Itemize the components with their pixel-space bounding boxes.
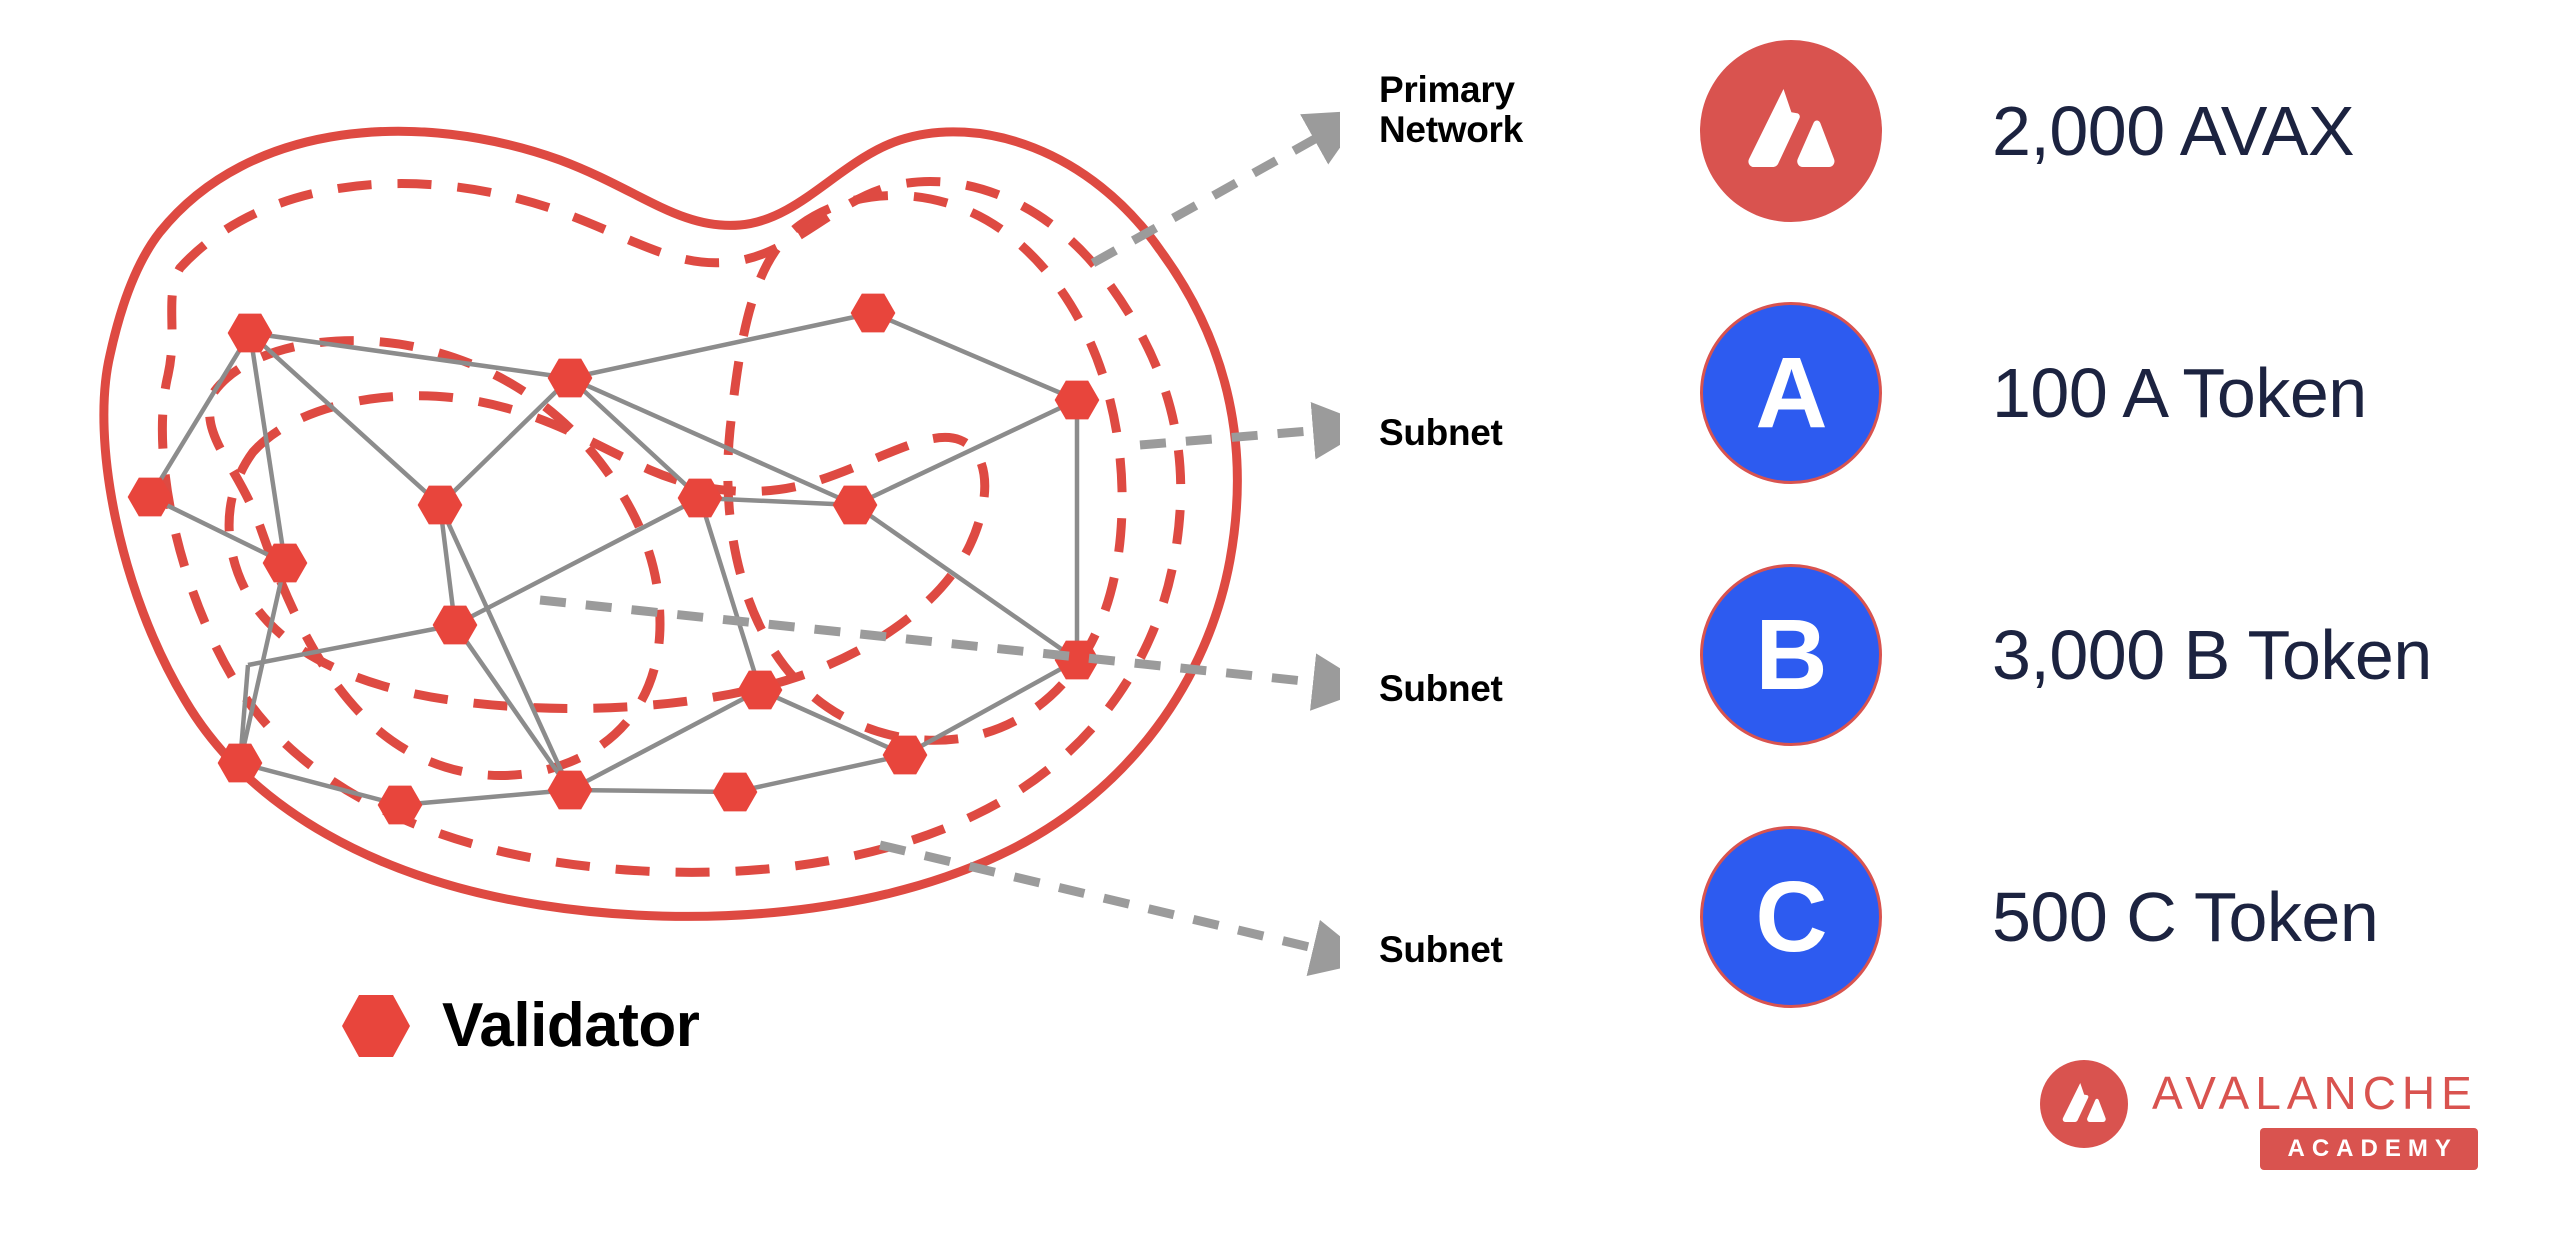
primary-network-inner-boundary — [162, 181, 1180, 872]
subnet-a-icon: A — [1700, 302, 1882, 484]
subnet-b-icon: B — [1700, 564, 1882, 746]
callout-label-subnet-c: Subnet — [1379, 930, 1503, 970]
avax-logo-icon — [1700, 40, 1882, 222]
validator-node — [548, 771, 593, 810]
validator-node — [378, 786, 423, 825]
primary-network-boundary — [104, 131, 1237, 916]
subnet-c-letter: C — [1755, 867, 1826, 967]
token-row-subnet-b: B 3,000 B Token — [1700, 564, 2432, 746]
validator-node — [738, 671, 783, 710]
arrow-subnet-c — [880, 845, 1322, 950]
token-row-primary-network: 2,000 AVAX — [1700, 40, 2354, 222]
validator-nodes — [128, 294, 1100, 825]
callout-label-subnet-b: Subnet — [1379, 669, 1503, 709]
validator-legend-label: Validator — [442, 990, 699, 1061]
avax-logo-icon — [2040, 1060, 2128, 1148]
avalanche-academy-logo: AVALANCHE ACADEMY — [2040, 1060, 2478, 1170]
token-row-subnet-c: C 500 C Token — [1700, 826, 2378, 1008]
logo-wordmark: AVALANCHE — [2152, 1070, 2478, 1116]
token-label-subnet-b: 3,000 B Token — [1992, 615, 2432, 695]
network-diagram — [0, 0, 1340, 1000]
validator-node — [851, 294, 896, 333]
subnet-a-letter: A — [1755, 343, 1826, 443]
avax-mark — [2058, 1081, 2110, 1127]
arrow-primary-network — [1093, 135, 1322, 263]
token-label-subnet-a: 100 A Token — [1992, 353, 2367, 433]
subnet-b-boundary — [229, 396, 985, 709]
validator-legend: Validator — [340, 990, 699, 1061]
token-label-subnet-c: 500 C Token — [1992, 877, 2378, 957]
token-row-subnet-a: A 100 A Token — [1700, 302, 2367, 484]
validator-node — [713, 773, 758, 812]
callout-label-subnet-a: Subnet — [1379, 413, 1503, 453]
diagram-canvas: Primary Network Subnet Subnet Subnet Val… — [0, 0, 2558, 1258]
token-label-primary-network: 2,000 AVAX — [1992, 91, 2354, 171]
avax-mark — [1739, 85, 1843, 177]
validator-node — [883, 736, 928, 775]
hexagon-icon — [340, 993, 412, 1059]
validator-node — [433, 606, 478, 645]
subnet-b-letter: B — [1755, 605, 1826, 705]
validator-node — [1055, 381, 1100, 420]
callout-arrows — [540, 135, 1322, 950]
callout-label-primary-network: Primary Network — [1379, 70, 1523, 150]
logo-academy-badge: ACADEMY — [2260, 1128, 2477, 1170]
subnet-c-icon: C — [1700, 826, 1882, 1008]
